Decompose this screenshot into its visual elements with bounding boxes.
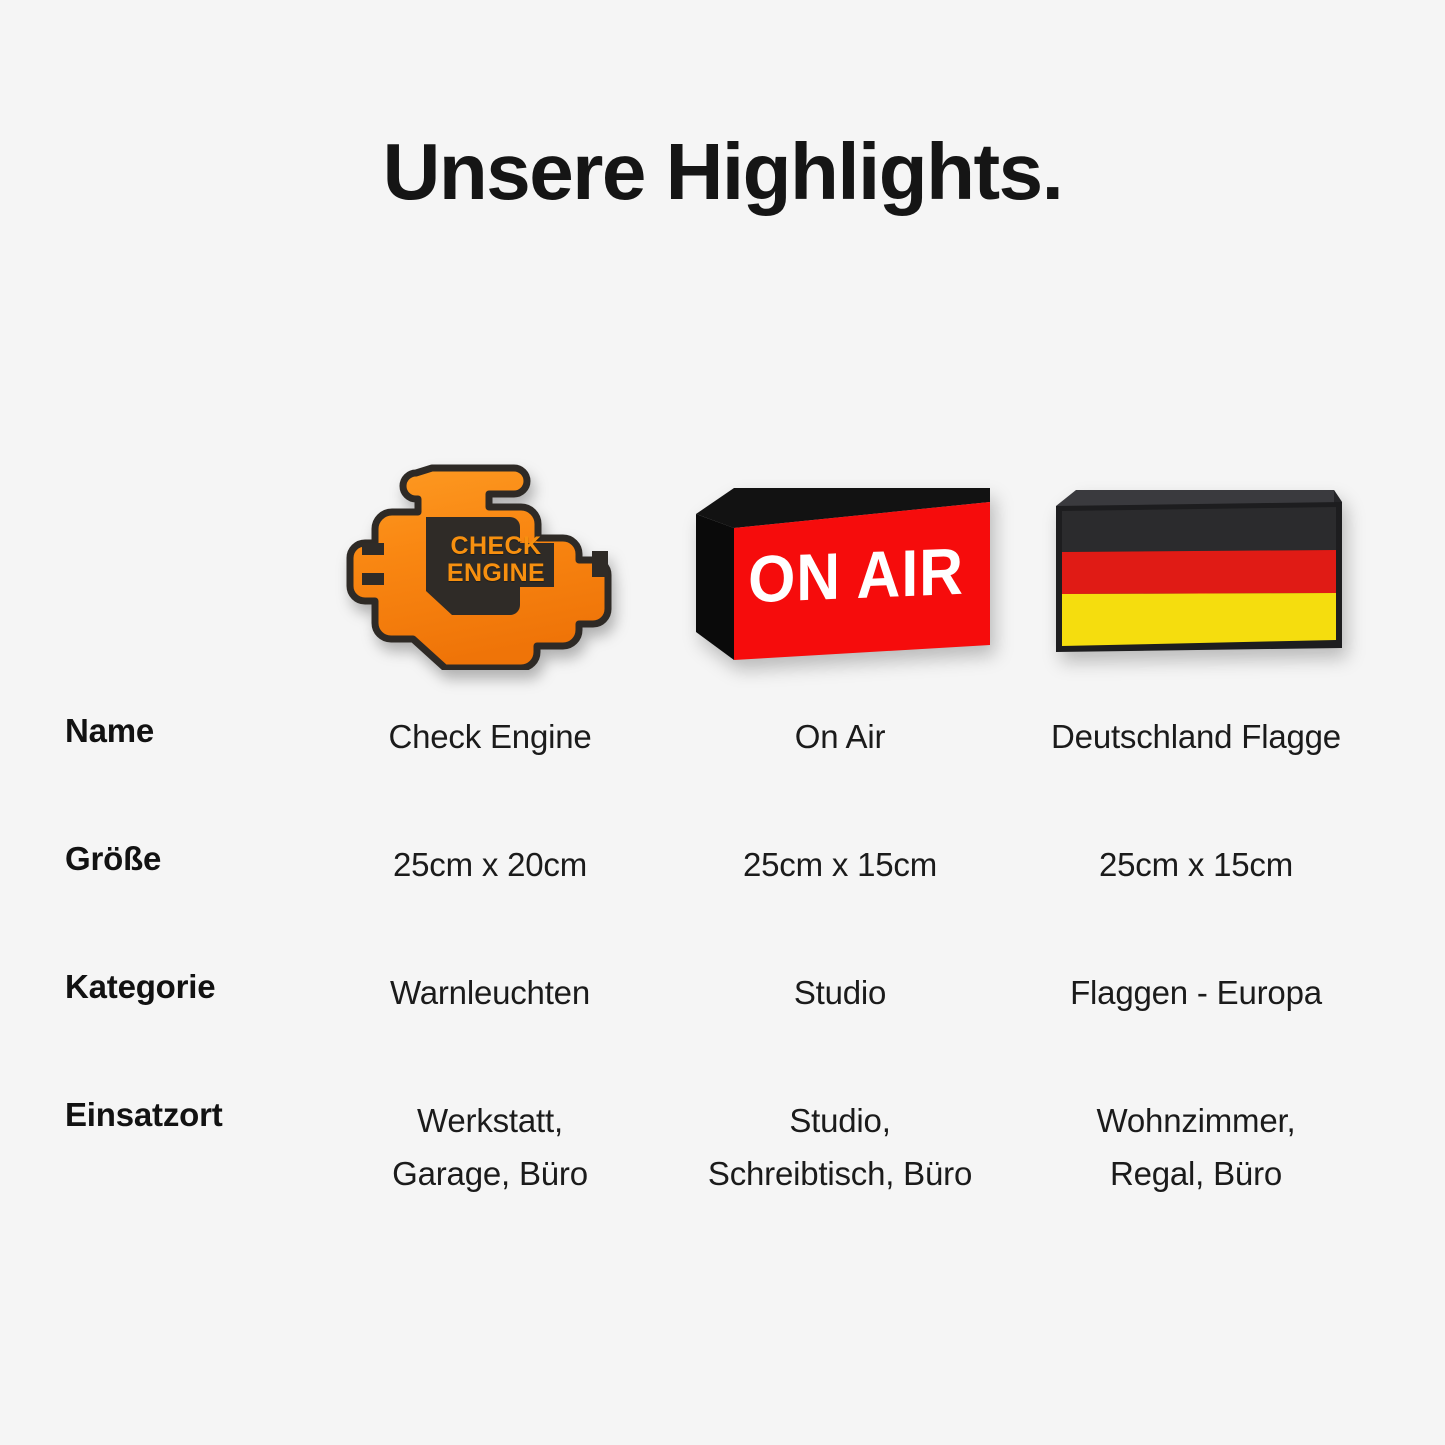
cell-groesse-deutschland-flagge: 25cm x 15cm [1026,838,1366,891]
on-air-lightbox: ON AIR [690,480,990,670]
row-label-kategorie: Kategorie [65,968,215,1006]
spec-table: Name Check Engine On Air Deutschland Fla… [0,690,1445,1244]
cell-einsatzort-deutschland-flagge-line1: Wohnzimmer, [1097,1102,1296,1139]
check-engine-lamp-icon: CHECK ENGINE [340,455,640,670]
page-title: Unsere Highlights. [0,132,1445,212]
cell-name-on-air: On Air [672,710,1008,763]
cell-einsatzort-check-engine: Werkstatt, Garage, Büro [320,1094,660,1201]
cell-einsatzort-check-engine-line2: Garage, Büro [392,1155,588,1192]
table-row: Kategorie Warnleuchten Studio Flaggen - … [0,946,1445,1074]
cell-name-deutschland-flagge: Deutschland Flagge [1026,710,1366,763]
cell-einsatzort-on-air-line2: Schreibtisch, Büro [708,1155,972,1192]
cell-kategorie-deutschland-flagge: Flaggen - Europa [1026,966,1366,1019]
cell-einsatzort-on-air: Studio, Schreibtisch, Büro [672,1094,1008,1201]
table-row: Einsatzort Werkstatt, Garage, Büro Studi… [0,1074,1445,1244]
row-label-name: Name [65,712,154,750]
product-image-deutschland-flagge[interactable] [1026,400,1366,670]
cell-einsatzort-on-air-line1: Studio, [789,1102,890,1139]
product-image-row: CHECK ENGINE ON AIR [0,400,1445,670]
cell-groesse-on-air: 25cm x 15cm [672,838,1008,891]
cell-einsatzort-check-engine-line1: Werkstatt, [417,1102,563,1139]
row-label-einsatzort: Einsatzort [65,1096,223,1134]
product-image-on-air[interactable]: ON AIR [672,400,1008,670]
product-image-check-engine[interactable]: CHECK ENGINE [320,400,660,670]
cell-name-check-engine: Check Engine [320,710,660,763]
cell-einsatzort-deutschland-flagge: Wohnzimmer, Regal, Büro [1026,1094,1366,1201]
row-label-groesse: Größe [65,840,161,878]
table-row: Größe 25cm x 20cm 25cm x 15cm 25cm x 15c… [0,818,1445,946]
cell-groesse-check-engine: 25cm x 20cm [320,838,660,891]
table-row: Name Check Engine On Air Deutschland Fla… [0,690,1445,818]
cell-kategorie-on-air: Studio [672,966,1008,1019]
cell-kategorie-check-engine: Warnleuchten [320,966,660,1019]
deutschland-flagge-lightbox [1046,480,1346,670]
cell-einsatzort-deutschland-flagge-line2: Regal, Büro [1110,1155,1282,1192]
